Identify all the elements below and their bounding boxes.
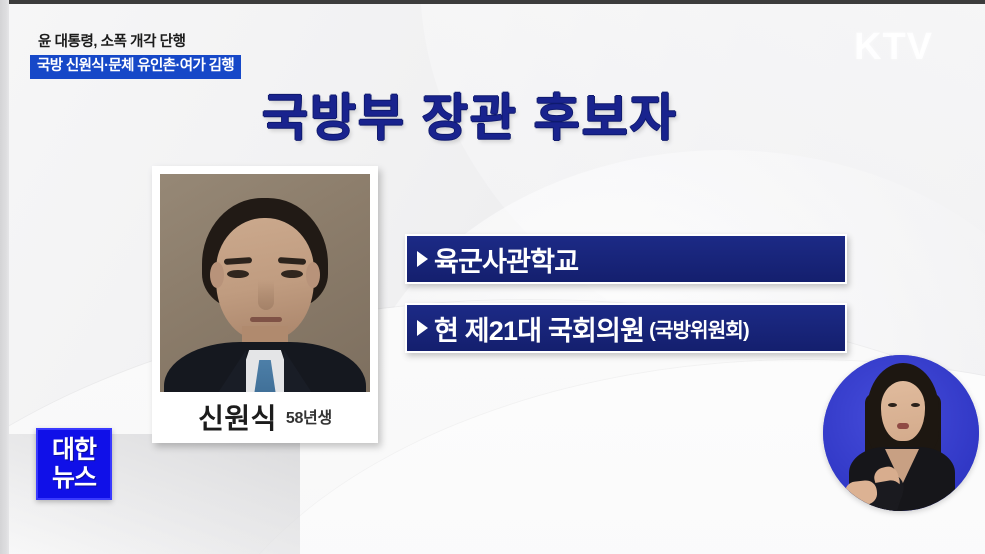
photo-eye-right [281, 270, 303, 278]
photo-mouth [250, 317, 282, 322]
nominee-birth-year: 58년생 [286, 404, 332, 430]
photo-eye-left [227, 270, 249, 278]
triangle-right-icon [417, 251, 428, 267]
channel-bug-ktv: KTV [854, 26, 933, 69]
channel-logo: 대한 뉴스 [36, 428, 112, 500]
broadcast-screen: 윤 대통령, 소폭 개각 단행 국방 신원식·문체 유인촌·여가 김행 KTV … [0, 0, 985, 554]
photo-ear-left [210, 262, 224, 288]
page-title: 국방부 장관 후보자 [262, 78, 678, 150]
signer-eye-left [888, 403, 897, 407]
channel-logo-line-2: 뉴스 [52, 464, 96, 492]
info-bar-position-text: 현 제21대 국회의원 [434, 309, 644, 348]
signer-eye-right [911, 403, 920, 407]
info-bar-education: 육군사관학교 [405, 234, 847, 284]
info-bar-position-note: (국방위원회) [649, 314, 749, 343]
nominee-photo [160, 174, 370, 392]
nominee-name: 신원식 [198, 397, 277, 437]
photo-ear-right [306, 262, 320, 288]
channel-logo-line-1: 대한 [52, 436, 96, 464]
signer-face [881, 381, 925, 441]
headline-sub-banner: 국방 신원식·문체 유인촌·여가 김행 [30, 55, 241, 79]
signer-mouth [897, 423, 909, 429]
info-bar-position: 현 제21대 국회의원 (국방위원회) [405, 303, 847, 353]
nominee-nameplate: 신원식 58년생 [160, 392, 370, 442]
letterbox-left [0, 0, 9, 554]
nominee-portrait-card: 신원식 58년생 [152, 166, 378, 443]
headline-main-text: 윤 대통령, 소폭 개각 단행 [30, 32, 270, 52]
photo-nose [258, 280, 274, 310]
sign-language-interpreter [823, 355, 979, 511]
headline-block: 윤 대통령, 소폭 개각 단행 국방 신원식·문체 유인촌·여가 김행 [30, 32, 270, 79]
triangle-right-icon [417, 320, 428, 336]
info-bar-education-text: 육군사관학교 [434, 240, 578, 279]
letterbox-top [0, 0, 985, 4]
